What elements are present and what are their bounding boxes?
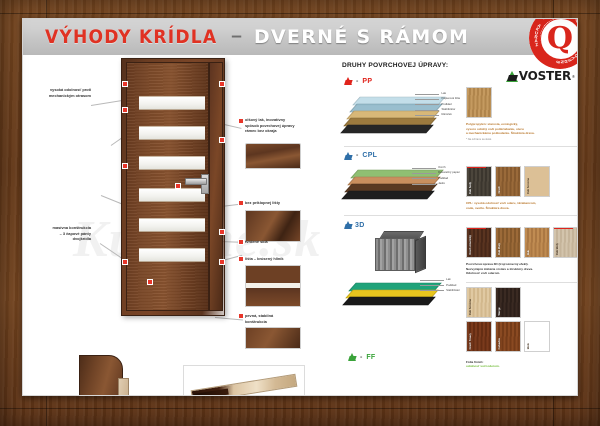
- swatch-cpl-1[interactable]: Novinka Dub Šedý: [466, 166, 492, 197]
- swatches-pp: Polypropylén: starosta, ecologický, vyso…: [466, 87, 578, 141]
- layer-labels-cpl: Ovrch Dekoračný papier Podklad Jadro: [412, 165, 460, 186]
- section-cpl-dash: -: [356, 152, 358, 159]
- swatch-label: Wenge: [498, 307, 501, 315]
- layer-labels-3d: Lak Podklad Stabilizátor: [420, 277, 460, 293]
- swatch-label: Dub Sonoma: [469, 299, 472, 315]
- page-title-white: DVERNÉ S RÁMOM: [254, 26, 469, 48]
- av-logo-3d-icon: [344, 221, 352, 229]
- av-logo-pp-icon: [344, 77, 352, 85]
- title-separator: –: [231, 26, 242, 48]
- swatch-desc-pp: Polypropylén: starosta, ecologický, vyso…: [466, 122, 578, 136]
- thumb-structure: [245, 327, 301, 349]
- thumb-joint: [245, 210, 301, 242]
- swatch-3d-4[interactable]: Novinka Dub Biely: [553, 227, 578, 258]
- poster-frame: VÝHODY KRÍDLA – DVERNÉ S RÁMOM ZÁRUKA · …: [0, 0, 600, 426]
- section-ff-header: - FF: [348, 353, 376, 361]
- av-logo-ff-icon: [348, 353, 356, 361]
- swatch-desc-ff: Fólia finish:: [466, 360, 483, 364]
- layer-labels-pp: Lak Papierová fólia Podklad Stabilizátor…: [415, 91, 460, 118]
- swatch-label: Orech Americký: [469, 235, 472, 255]
- layer-diagram-3d: Lak Podklad Stabilizátor: [342, 275, 460, 309]
- swatch-3d-1[interactable]: Novinka Orech Americký: [466, 227, 492, 258]
- swatch-cpl-2[interactable]: Orech: [495, 166, 521, 197]
- swatches-ff-row1: Dub Sonoma Wenge: [466, 287, 578, 318]
- callout-dot-5: [122, 163, 128, 169]
- badge-new-3d-1: Novinka: [467, 227, 486, 229]
- swatches-cpl: Novinka Dub Šedý Orech Dub Sonoma: [466, 162, 578, 210]
- callout-dot-6: [175, 183, 181, 189]
- annotation-stable: pevná, stabilná konštrukcia: [245, 313, 317, 324]
- callout-dot-7: [219, 229, 225, 235]
- swatch-ff-2[interactable]: Wenge: [495, 287, 521, 318]
- callout-dot-2: [219, 81, 225, 87]
- swatch-label: Orech: [498, 186, 501, 194]
- av-logo-cpl-icon: [344, 152, 352, 160]
- layer-diagram-pp: Lak Papierová fólia Podklad Stabilizátor…: [342, 87, 460, 139]
- thumb-alu-strip: [245, 265, 301, 307]
- figure-profile: Voliteľný prierez: [79, 355, 139, 396]
- section-cpl-code: CPL: [362, 152, 377, 159]
- right-pane: DRUHY POVRCHOVEJ ÚPRAVY: VOSTER ® - PP: [333, 55, 578, 395]
- swatch-label: Orech Tmavý: [469, 333, 472, 349]
- swatches-3d: Novinka Orech Americký Dub Zlatý Buk: [466, 221, 578, 369]
- section-ff-code: FF: [366, 354, 375, 361]
- section-3d: 3D: [342, 221, 578, 369]
- annotation-no-strip: bez príklopnej lišty: [245, 200, 317, 206]
- layer-label: Rámček: [415, 112, 460, 117]
- callout-dot-alu: [238, 256, 244, 262]
- swatch-desc-cpl: CPL: vysoká odolnosť voči oderu, škraban…: [466, 201, 578, 210]
- quality-seal-icon: ZÁRUKA · TRVALÝ VÝROBOK · DVERNÉ Q: [529, 18, 578, 69]
- callout-dot-10: [147, 279, 153, 285]
- layer-label: Jadro: [412, 181, 460, 186]
- annotation-veneer: olšový lak, inovatívny spôsob povrchovej…: [245, 117, 317, 134]
- swatches-ff-row2: Orech Tmavý Calvados Biela: [466, 321, 578, 352]
- swatch-ff-4[interactable]: Calvados: [495, 321, 521, 352]
- section-ff-dash: -: [360, 354, 362, 361]
- callout-dot-8: [122, 259, 128, 265]
- swatch-label: Dub Zlatý: [498, 243, 501, 255]
- poster-body: Kupelne.sk: [23, 55, 577, 395]
- swatch-label: Dub Šedý: [469, 182, 472, 194]
- section-pp-dash: -: [356, 78, 358, 85]
- badge-new-3d-2: Novinka: [554, 227, 573, 229]
- annotation-alu-strip: lišta – brúsený hliník: [245, 256, 317, 262]
- frame-seam-top: [0, 13, 600, 14]
- swatch-note-pp: * Na ochranu sa skúsi.: [466, 138, 578, 141]
- swatch-ff-1[interactable]: Dub Sonoma: [466, 287, 492, 318]
- left-pane: Kupelne.sk: [23, 55, 333, 395]
- annotation-impact: vysoká odolnosť proti mechanickým otraso…: [33, 87, 91, 98]
- swatch-label: Calvados: [498, 338, 501, 350]
- layer-label: Stabilizátor: [420, 288, 460, 293]
- swatch-ff-3[interactable]: Orech Tmavý: [466, 321, 492, 352]
- page-title-red: VÝHODY KRÍDLA: [45, 26, 217, 48]
- leader-line-impact: [91, 100, 125, 106]
- callout-dot-stable: [238, 313, 244, 319]
- swatch-cpl-3[interactable]: Dub Sonoma: [524, 166, 550, 197]
- swatch-ff-5[interactable]: Biela: [524, 321, 550, 352]
- callout-dot-1: [122, 81, 128, 87]
- section-pp-code: PP: [362, 78, 372, 85]
- quality-seal-letter: Q: [529, 18, 578, 69]
- callout-dot-4: [219, 137, 225, 143]
- poster-header: VÝHODY KRÍDLA – DVERNÉ S RÁMOM ZÁRUKA · …: [23, 19, 577, 55]
- texture-cube-3d: [375, 231, 427, 271]
- swatch-label: Biela: [527, 343, 530, 349]
- figure-joint: Sošitka – masívna konštrukcia S RÁMOM: [183, 365, 313, 396]
- callout-dot-nostrip: [238, 200, 244, 206]
- callout-dot-3: [122, 107, 128, 113]
- swatch-label: Buk: [527, 250, 530, 255]
- callout-dot-9: [219, 259, 225, 265]
- swatch-desc-ff-accent: odolnosť voči oderom.: [466, 364, 500, 368]
- section-pp: - PP Lak Papierová fólia: [342, 77, 578, 141]
- swatch-3d-2[interactable]: Dub Zlatý: [495, 227, 521, 258]
- annotation-glass: tvrdené sklá: [245, 239, 317, 245]
- section-cpl: - CPL Ovrch Dekoračný papier P: [342, 152, 578, 210]
- door-handle-icon: [185, 178, 207, 185]
- callout-dot-glass: [238, 239, 244, 245]
- callout-dot-veneer: [238, 118, 244, 124]
- swatch-3d-3[interactable]: Buk: [524, 227, 550, 258]
- swatch-desc-3d: Povrchová úprava 3D (trojrozmerný efekt)…: [466, 262, 578, 276]
- annotation-hinges: masívna konštrukcia – 3 čapové pánty dvo…: [31, 225, 91, 242]
- section-3d-code: 3D: [355, 222, 365, 229]
- layer-diagram-cpl: Ovrch Dekoračný papier Podklad Jadro: [342, 162, 460, 206]
- swatch-pp-1[interactable]: [466, 87, 492, 118]
- badge-new-cpl: Novinka: [467, 166, 486, 168]
- swatch-label: Dub Sonoma: [527, 178, 530, 194]
- poster-sheet: VÝHODY KRÍDLA – DVERNÉ S RÁMOM ZÁRUKA · …: [22, 18, 578, 396]
- door-illustration: [121, 58, 225, 316]
- thumb-moulding: [245, 143, 301, 169]
- swatch-label: Dub Biely: [556, 243, 559, 255]
- frame-seam-bottom: [0, 408, 600, 409]
